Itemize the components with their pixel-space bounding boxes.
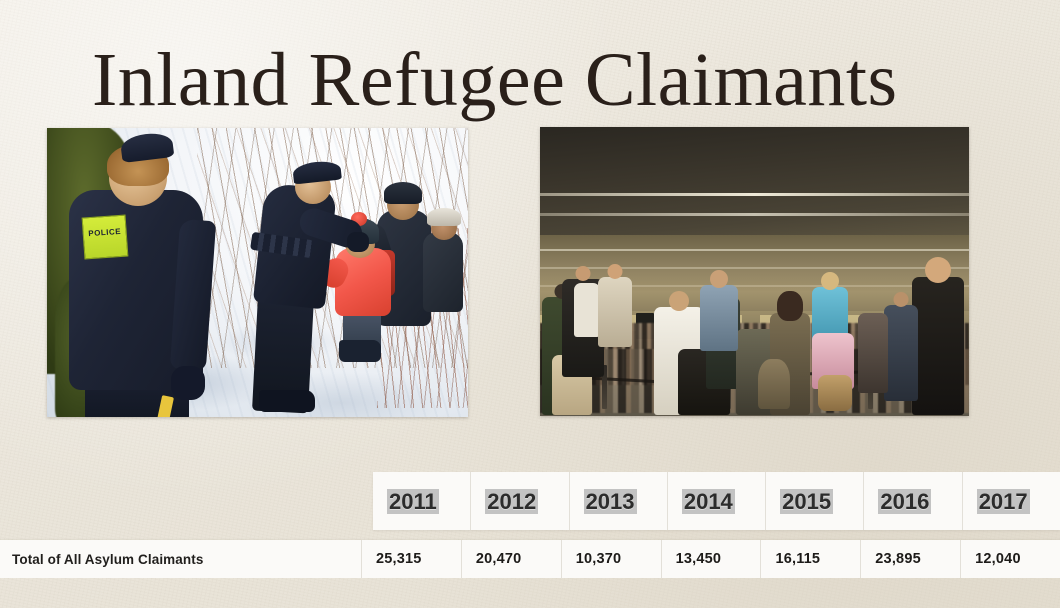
police-patch-label: POLICE	[84, 227, 125, 239]
table-cell-2012: 20,470	[462, 540, 562, 578]
police-patch: POLICE	[82, 215, 129, 260]
year-label: 2012	[485, 489, 538, 514]
year-label: 2016	[878, 489, 931, 514]
table-header-cell-2017[interactable]: 2017	[963, 472, 1060, 530]
year-label: 2015	[780, 489, 833, 514]
year-label: 2017	[977, 489, 1030, 514]
year-label: 2014	[682, 489, 735, 514]
table-cell-2015: 16,115	[761, 540, 861, 578]
page-title: Inland Refugee Claimants	[92, 40, 992, 120]
table-header-cell-2015[interactable]: 2015	[766, 472, 864, 530]
table-header-cell-2011[interactable]: 2011	[373, 472, 471, 530]
terminal-ceiling	[540, 127, 969, 235]
table-header-cell-2016[interactable]: 2016	[864, 472, 962, 530]
upper-wall-stripe-1	[540, 249, 969, 251]
table-cell-2014: 13,450	[662, 540, 762, 578]
photo-police-escorting-refugees-in-snow: POLICE	[47, 128, 468, 417]
table-header-cell-2012[interactable]: 2012	[471, 472, 569, 530]
table-row: Total of All Asylum Claimants 25,315 20,…	[0, 540, 1060, 578]
table-cell-2016: 23,895	[861, 540, 961, 578]
presentation-slide: Inland Refugee Claimants	[0, 0, 1060, 608]
officer-bending-glove	[347, 232, 369, 252]
crowd-figure	[858, 313, 888, 393]
upper-wall-stripe-2	[540, 267, 969, 269]
officer-bending-boots	[259, 390, 315, 412]
photo-crowded-airport-terminal	[540, 127, 969, 416]
ceiling-light-strip-2	[540, 213, 969, 216]
second-child-hat	[427, 208, 461, 226]
adult-figure-hat	[384, 182, 422, 204]
table-header-cell-2014[interactable]: 2014	[668, 472, 766, 530]
crowd-figure	[598, 277, 632, 347]
crowd-bag	[758, 359, 790, 409]
row-label-total-asylum-claimants: Total of All Asylum Claimants	[0, 540, 362, 578]
officer-foreground-glove	[171, 366, 205, 400]
second-child-body	[423, 232, 463, 312]
crowd-figure-blue-shirt	[700, 285, 738, 351]
crowd-figure	[574, 283, 600, 337]
table-cell-2017: 12,040	[961, 540, 1060, 578]
year-label: 2011	[387, 489, 439, 514]
year-label: 2013	[584, 489, 637, 514]
crowd-figure-foreground-right	[912, 277, 964, 415]
table-header-row: 2011 2012 2013 2014 2015 2016 2017	[373, 472, 1060, 530]
table-cell-2013: 10,370	[562, 540, 662, 578]
crowd-luggage	[818, 375, 852, 411]
child-boots	[339, 340, 381, 362]
table-cell-2011: 25,315	[362, 540, 462, 578]
crowd-figure	[884, 305, 918, 401]
table-header-cell-2013[interactable]: 2013	[570, 472, 668, 530]
ceiling-light-strip-1	[540, 193, 969, 196]
